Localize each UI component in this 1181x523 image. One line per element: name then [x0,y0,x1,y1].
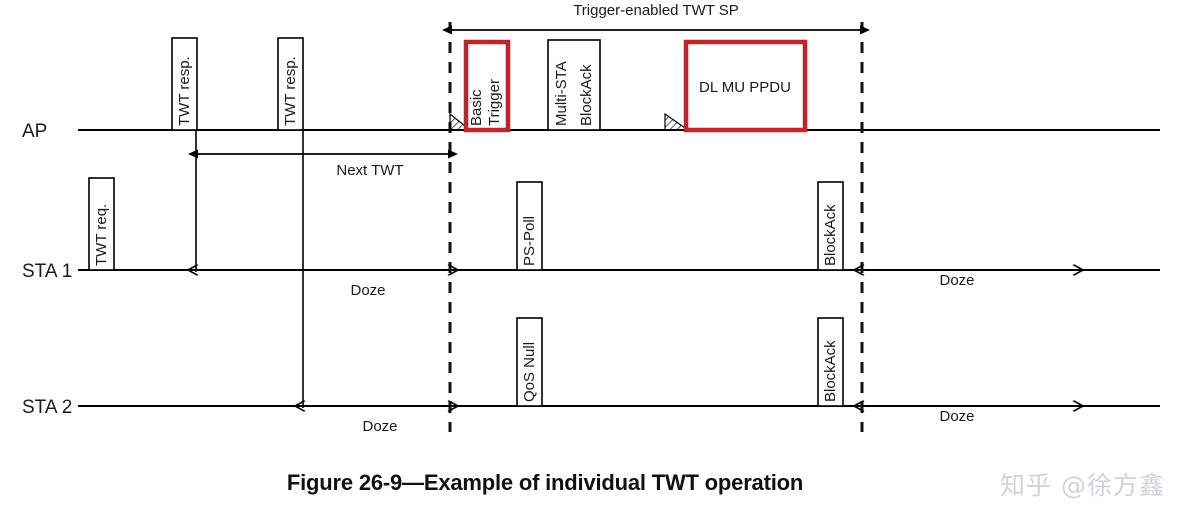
span-label-sta1-doze-right: Doze [939,272,974,289]
frame-label-qos-null: QoS Null [521,342,538,402]
twt-sequence-diagram: AP STA 1 STA 2 Trigger-enabled TWT SP Ne… [0,0,1181,523]
frame-label-sta1-blockack: BlockAck [822,204,839,266]
span-trigger-enabled-twt-sp: Trigger-enabled TWT SP [452,2,860,30]
span-label-sta2-doze-left: Doze [362,418,397,435]
span-label-sta1-doze-left: Doze [350,282,385,299]
span-label-sta2-doze-right: Doze [939,408,974,425]
frame-twt-req[interactable]: TWT req. [89,178,114,270]
frame-label-basic-trigger-line2: Trigger [486,79,503,126]
frame-label-multi-sta-blockack-line2: BlockAck [578,64,595,126]
row-label-sta2: STA 2 [22,397,72,418]
frame-sta1-blockack[interactable]: BlockAck [818,182,843,270]
frame-label-twt-resp-2: TWT resp. [282,56,299,126]
span-sta2-doze-left: Doze [305,406,448,435]
span-sta1-doze-left: Doze [198,270,448,299]
frame-label-basic-trigger-line1: Basic [468,89,485,126]
zhihu-watermark: 知乎 @徐方鑫 [1000,466,1165,502]
frame-multi-sta-blockack[interactable]: Multi-STA BlockAck [548,40,600,130]
frame-label-ps-poll: PS-Poll [521,216,538,266]
frame-twt-resp-2[interactable]: TWT resp. [278,38,303,130]
lifeline-group [78,130,1160,406]
frame-label-multi-sta-blockack-line1: Multi-STA [553,61,570,126]
row-label-ap: AP [22,121,47,142]
span-label-next-twt: Next TWT [336,162,403,179]
span-sta1-doze-right: Doze [864,270,1073,289]
frame-label-twt-req: TWT req. [93,204,110,266]
diagram-canvas: AP STA 1 STA 2 Trigger-enabled TWT SP Ne… [0,0,1181,470]
frame-label-twt-resp-1: TWT resp. [176,56,193,126]
frame-basic-trigger[interactable]: Basic Trigger [450,42,508,130]
frame-ps-poll[interactable]: PS-Poll [517,182,542,270]
span-sta2-doze-right: Doze [864,406,1073,425]
frame-qos-null[interactable]: QoS Null [517,318,542,406]
frame-sta2-blockack[interactable]: BlockAck [818,318,843,406]
frame-dl-mu-ppdu[interactable]: DL MU PPDU [665,42,805,130]
row-label-sta1: STA 1 [22,261,72,282]
frame-label-sta2-blockack: BlockAck [822,340,839,402]
frame-twt-resp-1[interactable]: TWT resp. [172,38,197,130]
span-label-trigger-sp: Trigger-enabled TWT SP [573,2,739,19]
span-next-twt: Next TWT [198,154,448,179]
figure-caption: Figure 26-9—Example of individual TWT op… [0,470,1090,496]
frame-label-dl-mu-ppdu: DL MU PPDU [699,79,791,96]
